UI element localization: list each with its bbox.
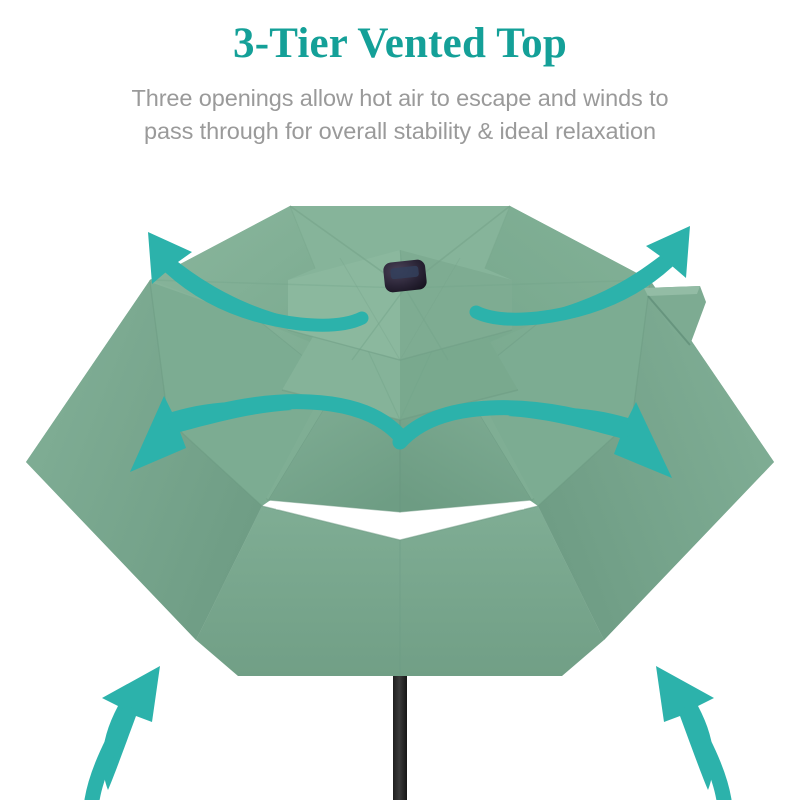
page-subtitle: Three openings allow hot air to escape a…	[0, 65, 800, 148]
umbrella-hub	[383, 259, 428, 293]
page-title: 3-Tier Vented Top	[0, 0, 800, 65]
product-feature-graphic: 3-Tier Vented Top Three openings allow h…	[0, 0, 800, 800]
airflow-arrow-bottom-right	[656, 666, 724, 800]
subtitle-line-1: Three openings allow hot air to escape a…	[0, 82, 800, 115]
subtitle-line-2: pass through for overall stability & ide…	[0, 115, 800, 148]
airflow-arrow-bottom-left	[92, 666, 160, 800]
header: 3-Tier Vented Top Three openings allow h…	[0, 0, 800, 148]
